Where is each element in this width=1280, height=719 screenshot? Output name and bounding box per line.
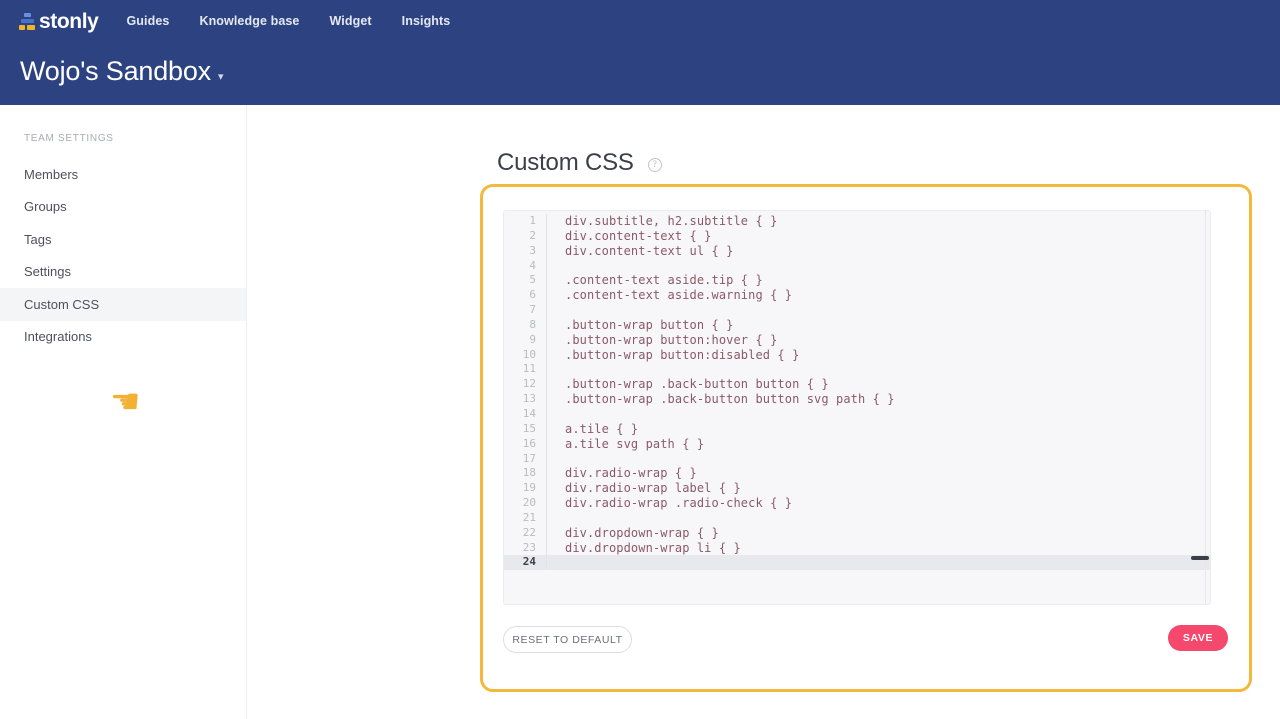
code-line[interactable]: 6.content-text aside.warning { }: [504, 288, 1210, 303]
code-line-text: div.radio-wrap { }: [547, 466, 697, 481]
code-line[interactable]: 14: [504, 407, 1210, 422]
code-line-text: div.content-text ul { }: [547, 244, 733, 259]
code-line[interactable]: 21: [504, 511, 1210, 526]
line-number: 3: [504, 244, 546, 259]
gutter-divider: [546, 511, 547, 526]
code-line-text: div.subtitle, h2.subtitle { }: [547, 214, 777, 229]
page-title: Custom CSS: [497, 149, 634, 177]
main-content: Custom CSS ? 1div.subtitle, h2.subtitle …: [248, 105, 1280, 719]
code-line[interactable]: 20div.radio-wrap .radio-check { }: [504, 496, 1210, 511]
gutter-divider: [546, 259, 547, 274]
line-number: 5: [504, 273, 546, 288]
code-line[interactable]: 15a.tile { }: [504, 422, 1210, 437]
code-line-text: a.tile svg path { }: [547, 437, 704, 452]
line-number: 15: [504, 422, 546, 437]
line-number: 10: [504, 348, 546, 363]
code-line-text: .button-wrap button:disabled { }: [547, 348, 799, 363]
line-number: 20: [504, 496, 546, 511]
gutter-divider: [546, 452, 547, 467]
line-number: 13: [504, 392, 546, 407]
code-line[interactable]: 8.button-wrap button { }: [504, 318, 1210, 333]
help-icon[interactable]: ?: [648, 158, 662, 172]
sidebar-item-label: Integrations: [24, 329, 92, 344]
nav-link-knowledge-base[interactable]: Knowledge base: [199, 14, 299, 28]
line-number: 4: [504, 259, 546, 274]
code-line-text: .button-wrap .back-button button { }: [547, 377, 829, 392]
sidebar-item-label: Members: [24, 167, 78, 182]
code-line-text: div.radio-wrap label { }: [547, 481, 741, 496]
nav-link-widget[interactable]: Widget: [329, 14, 371, 28]
top-header-bar: stonly Guides Knowledge base Widget Insi…: [0, 0, 1280, 105]
code-line-text: div.dropdown-wrap li { }: [547, 541, 741, 556]
sidebar-item-groups[interactable]: Groups: [0, 191, 246, 224]
code-line[interactable]: 23div.dropdown-wrap li { }: [504, 541, 1210, 556]
workspace-title: Wojo's Sandbox: [20, 56, 211, 87]
line-number: 21: [504, 511, 546, 526]
css-code-editor[interactable]: 1div.subtitle, h2.subtitle { }2div.conte…: [503, 210, 1211, 605]
code-lines[interactable]: 1div.subtitle, h2.subtitle { }2div.conte…: [504, 211, 1210, 604]
line-number: 24: [504, 555, 546, 570]
sidebar-item-label: Settings: [24, 264, 71, 279]
sidebar-item-list: Members Groups Tags Settings Custom CSS …: [0, 158, 246, 353]
code-line[interactable]: 19div.radio-wrap label { }: [504, 481, 1210, 496]
code-line[interactable]: 9.button-wrap button:hover { }: [504, 333, 1210, 348]
workspace-switcher[interactable]: Wojo's Sandbox ▾: [20, 56, 224, 87]
line-number: 6: [504, 288, 546, 303]
code-line-text: div.radio-wrap .radio-check { }: [547, 496, 792, 511]
sidebar-item-integrations[interactable]: Integrations: [0, 321, 246, 354]
brand-name: stonly: [39, 11, 98, 32]
line-number: 17: [504, 452, 546, 467]
code-line-text: .button-wrap button { }: [547, 318, 733, 333]
sidebar: TEAM SETTINGS Members Groups Tags Settin…: [0, 105, 247, 719]
sidebar-item-settings[interactable]: Settings: [0, 256, 246, 289]
sidebar-item-custom-css[interactable]: Custom CSS: [0, 288, 246, 321]
line-number: 12: [504, 377, 546, 392]
primary-nav: stonly Guides Knowledge base Widget Insi…: [0, 0, 1280, 42]
code-line-text: a.tile { }: [547, 422, 638, 437]
reset-to-default-button[interactable]: RESET TO DEFAULT: [503, 626, 632, 653]
code-line[interactable]: 2div.content-text { }: [504, 229, 1210, 244]
page-header: Custom CSS ?: [497, 149, 662, 177]
code-line-text: div.dropdown-wrap { }: [547, 526, 719, 541]
nav-links: Guides Knowledge base Widget Insights: [126, 14, 480, 28]
sidebar-item-label: Tags: [24, 232, 51, 247]
sidebar-item-label: Custom CSS: [24, 297, 99, 312]
line-number: 11: [504, 362, 546, 377]
horizontal-scrollbar-thumb[interactable]: [1191, 556, 1209, 560]
custom-css-card: 1div.subtitle, h2.subtitle { }2div.conte…: [485, 189, 1247, 687]
gutter-divider: [546, 303, 547, 318]
code-line[interactable]: 17: [504, 452, 1210, 467]
line-number: 1: [504, 214, 546, 229]
code-line[interactable]: 7: [504, 303, 1210, 318]
pointing-hand-icon: ☚: [110, 385, 140, 419]
line-number: 7: [504, 303, 546, 318]
gutter-divider: [546, 407, 547, 422]
sidebar-item-members[interactable]: Members: [0, 158, 246, 191]
gutter-divider: [546, 555, 547, 570]
gutter-divider: [546, 362, 547, 377]
nav-link-guides[interactable]: Guides: [126, 14, 169, 28]
code-line-text: .content-text aside.warning { }: [547, 288, 792, 303]
line-number: 2: [504, 229, 546, 244]
line-number: 23: [504, 541, 546, 556]
line-number: 16: [504, 437, 546, 452]
line-number: 8: [504, 318, 546, 333]
code-line[interactable]: 16a.tile svg path { }: [504, 437, 1210, 452]
code-line[interactable]: 10.button-wrap button:disabled { }: [504, 348, 1210, 363]
line-number: 22: [504, 526, 546, 541]
editor-right-rule: [1205, 211, 1206, 604]
code-line-text: div.content-text { }: [547, 229, 712, 244]
code-line[interactable]: 22div.dropdown-wrap { }: [504, 526, 1210, 541]
code-line-text: .button-wrap .back-button button svg pat…: [547, 392, 895, 407]
code-line[interactable]: 5.content-text aside.tip { }: [504, 273, 1210, 288]
code-line[interactable]: 4: [504, 259, 1210, 274]
code-line[interactable]: 18div.radio-wrap { }: [504, 466, 1210, 481]
code-line-text: .content-text aside.tip { }: [547, 273, 763, 288]
code-line[interactable]: 12.button-wrap .back-button button { }: [504, 377, 1210, 392]
line-number: 14: [504, 407, 546, 422]
line-number: 9: [504, 333, 546, 348]
code-line[interactable]: 1div.subtitle, h2.subtitle { }: [504, 214, 1210, 229]
line-number: 18: [504, 466, 546, 481]
code-line[interactable]: 3div.content-text ul { }: [504, 244, 1210, 259]
stonly-logo-icon: [19, 13, 36, 30]
code-line[interactable]: 24: [504, 555, 1210, 570]
sidebar-item-tags[interactable]: Tags: [0, 223, 246, 256]
sidebar-item-label: Groups: [24, 199, 67, 214]
brand-logo[interactable]: stonly: [19, 0, 98, 42]
line-number: 19: [504, 481, 546, 496]
sidebar-section-heading: TEAM SETTINGS: [24, 133, 114, 144]
code-line[interactable]: 11: [504, 362, 1210, 377]
save-button[interactable]: SAVE: [1168, 625, 1228, 651]
code-line[interactable]: 13.button-wrap .back-button button svg p…: [504, 392, 1210, 407]
code-line-text: .button-wrap button:hover { }: [547, 333, 777, 348]
nav-link-insights[interactable]: Insights: [402, 14, 451, 28]
chevron-down-icon: ▾: [218, 70, 224, 83]
